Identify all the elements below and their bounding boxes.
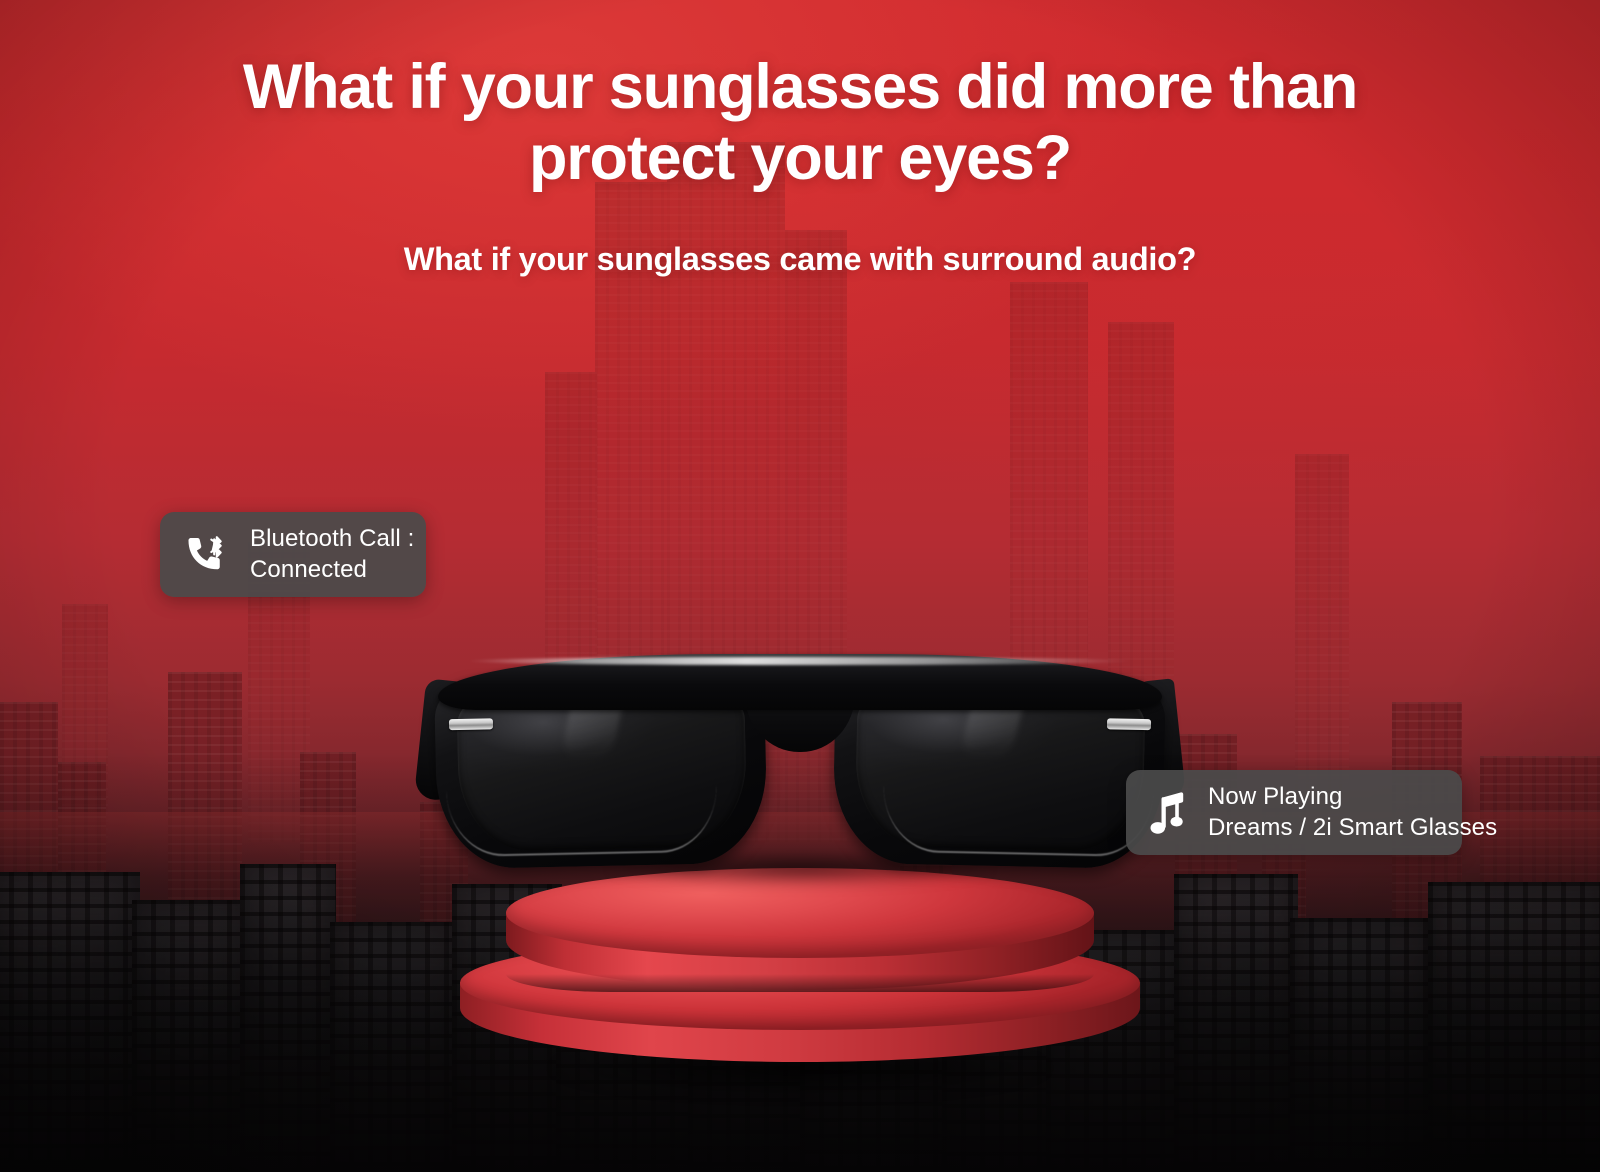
bluetooth-card-line2: Connected bbox=[250, 555, 414, 586]
page-subtitle: What if your sunglasses came with surrou… bbox=[0, 241, 1600, 278]
sunglasses-product-image bbox=[430, 650, 1170, 880]
page-title: What if your sunglasses did more than pr… bbox=[0, 52, 1600, 193]
promo-banner: What if your sunglasses did more than pr… bbox=[0, 0, 1600, 1172]
sunglasses-lens-right bbox=[854, 690, 1145, 852]
bluetooth-card-line1: Bluetooth Call : bbox=[250, 524, 414, 555]
sunglasses-hinge-left bbox=[449, 718, 493, 730]
phone-bluetooth-icon bbox=[182, 535, 232, 575]
now-playing-card[interactable]: Now Playing Dreams / 2i Smart Glasses bbox=[1126, 770, 1462, 855]
now-playing-track: Dreams / 2i Smart Glasses bbox=[1208, 813, 1497, 844]
now-playing-label: Now Playing bbox=[1208, 782, 1497, 813]
sunglasses-brow-bar bbox=[438, 654, 1162, 710]
sunglasses-lens-left bbox=[456, 690, 747, 852]
bluetooth-card-text: Bluetooth Call : Connected bbox=[250, 524, 414, 585]
headline-block: What if your sunglasses did more than pr… bbox=[0, 0, 1600, 278]
sunglasses-hinge-right bbox=[1107, 718, 1151, 730]
bluetooth-call-status-card[interactable]: Bluetooth Call : Connected bbox=[160, 512, 426, 597]
music-note-icon bbox=[1148, 791, 1190, 835]
now-playing-card-text: Now Playing Dreams / 2i Smart Glasses bbox=[1208, 782, 1497, 843]
